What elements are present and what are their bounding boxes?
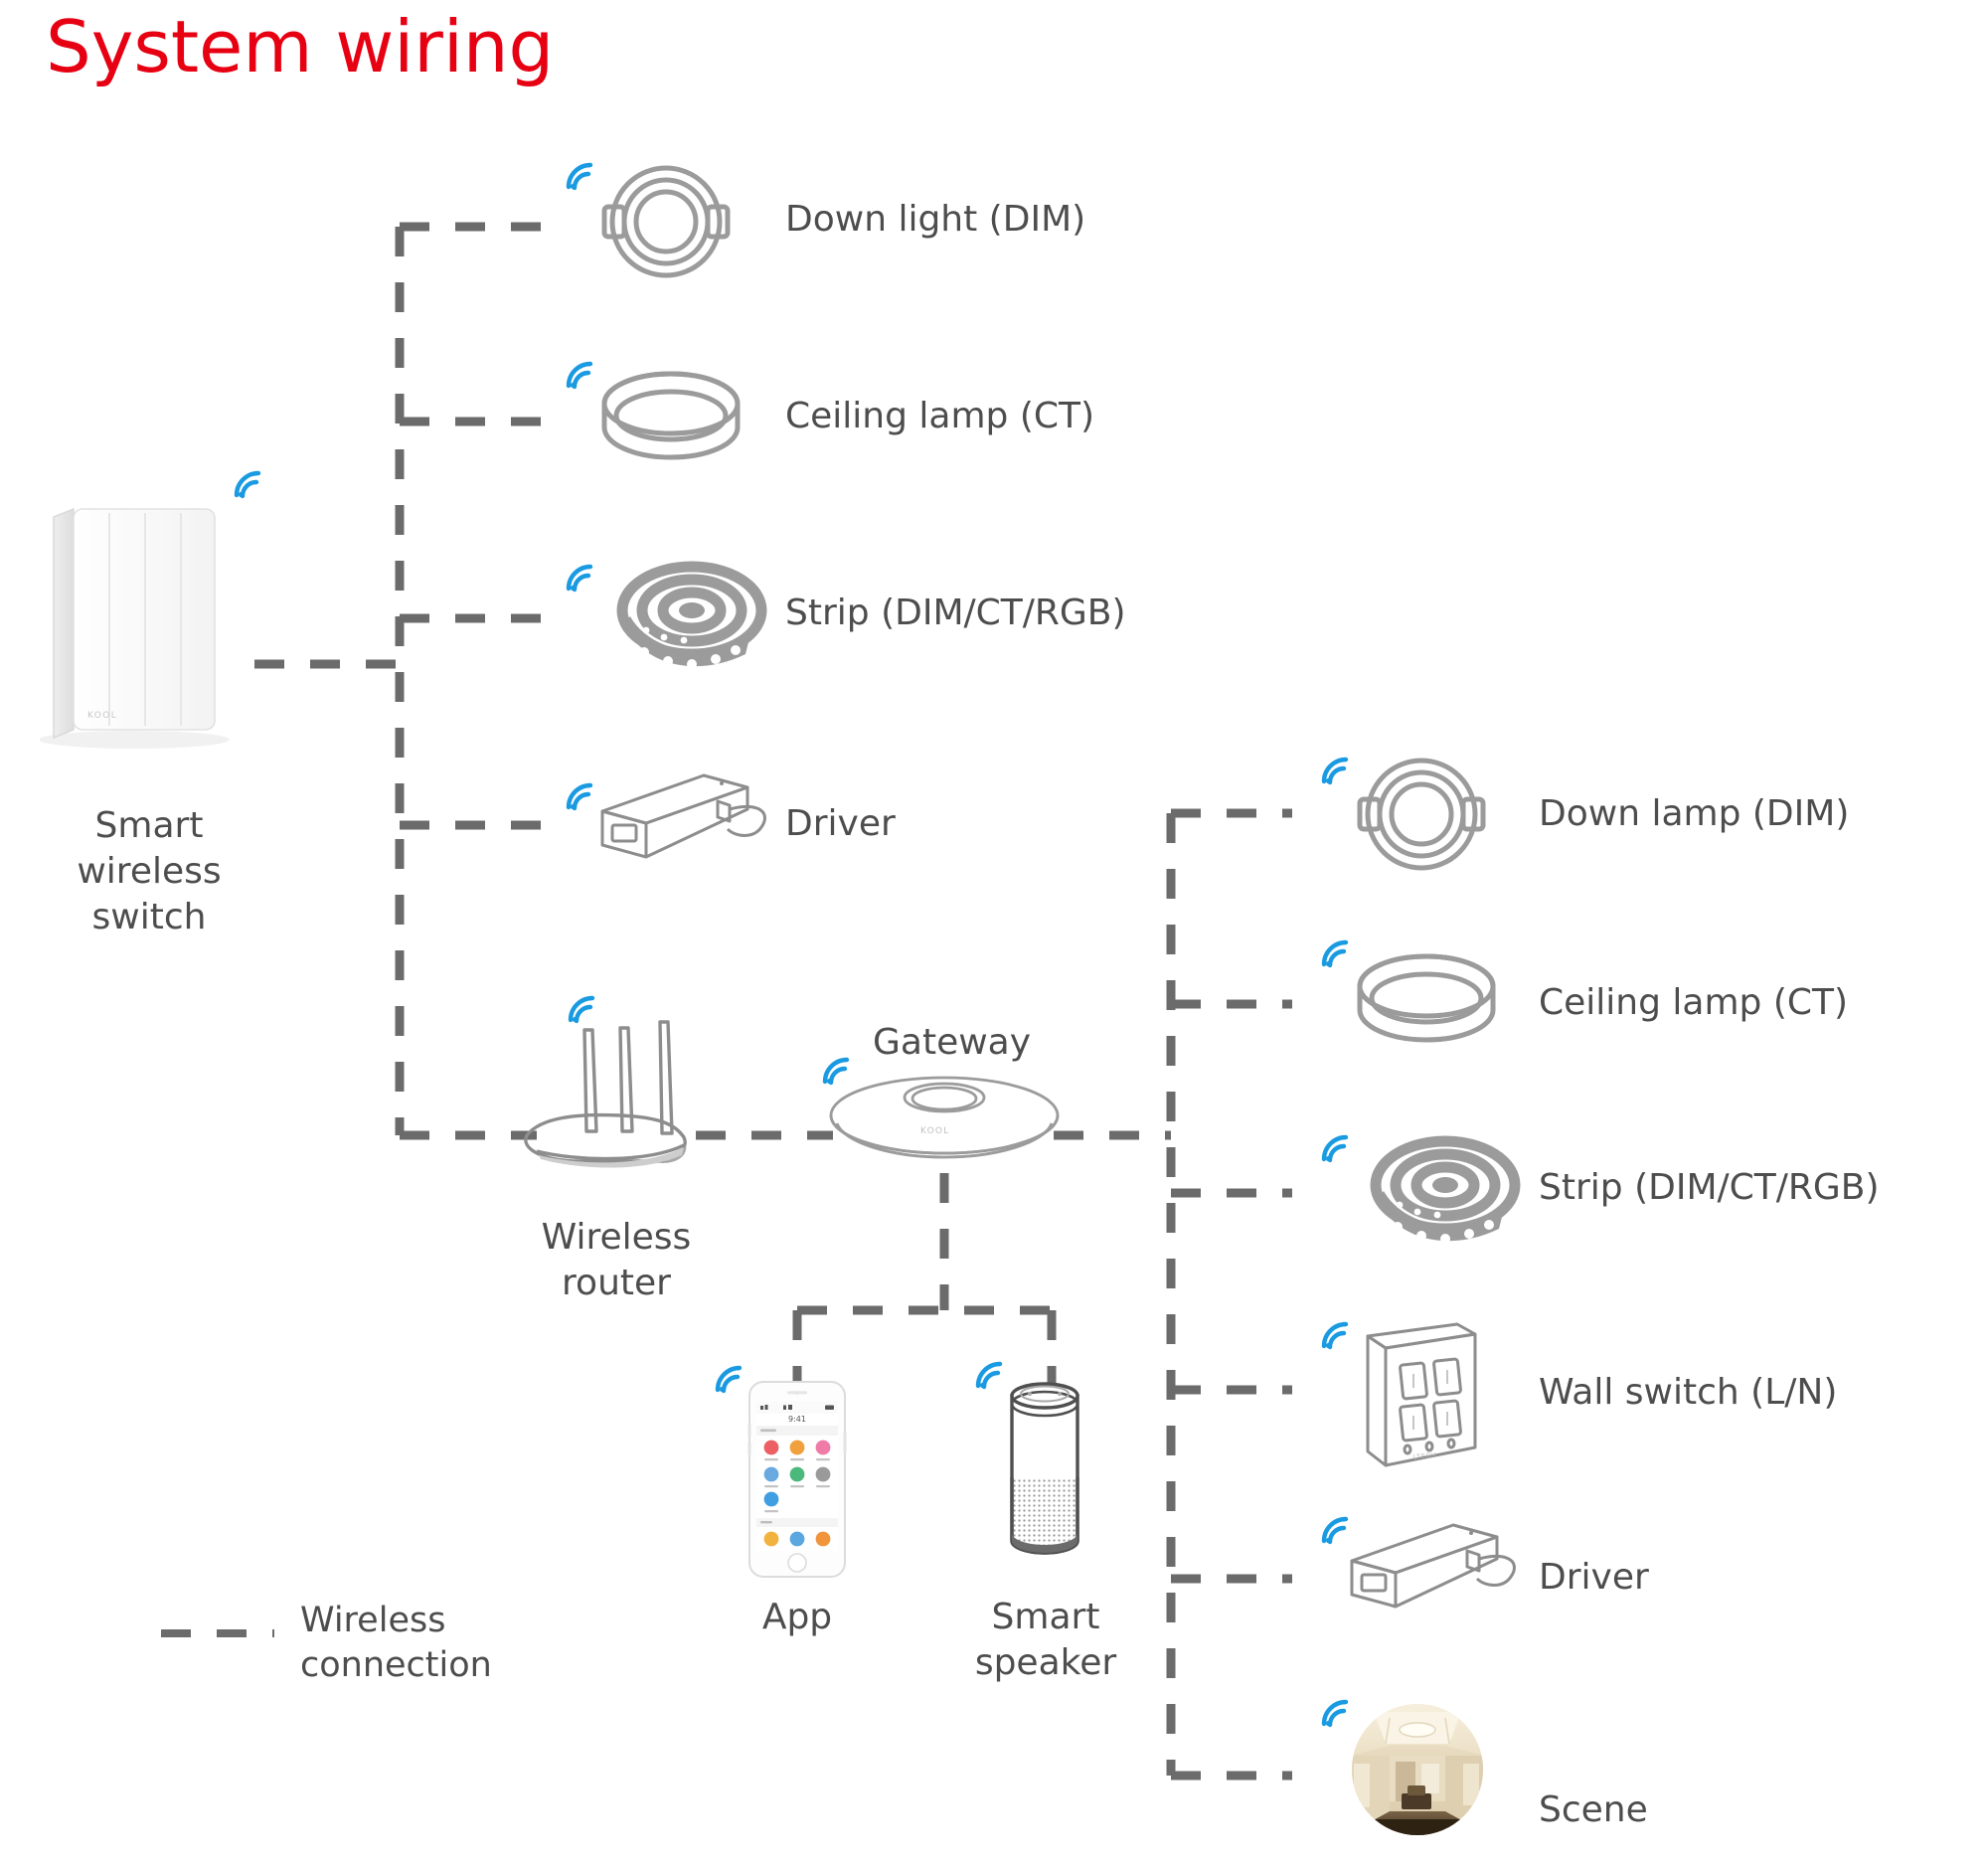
wifi-icon-ceiling-lamp-left: [563, 360, 596, 390]
scene-label: Scene: [1539, 1787, 1648, 1833]
scene-icon[interactable]: [1350, 1702, 1485, 1837]
legend-dashed-line: [159, 1622, 276, 1630]
down-lamp-label: Down lamp (DIM): [1539, 791, 1849, 837]
app-label: App: [698, 1595, 897, 1640]
wiring-connections: [0, 0, 1988, 1867]
gateway-label: Gateway: [873, 1020, 1031, 1066]
gateway-device[interactable]: KOOL: [825, 1072, 1064, 1181]
wifi-icon-speaker: [972, 1360, 1006, 1390]
ceiling-lamp-label-left: Ceiling lamp (CT): [785, 394, 1094, 439]
smart-wireless-switch-label: Smart wireless switch: [20, 803, 278, 940]
svg-text:KOOL: KOOL: [87, 711, 117, 721]
driver-label-left: Driver: [785, 801, 896, 847]
switch-label-line-2: wireless: [20, 849, 278, 895]
legend-line-2: connection: [300, 1643, 492, 1688]
ceiling-lamp-icon-left[interactable]: [596, 370, 745, 475]
down-lamp-icon[interactable]: [1352, 750, 1491, 879]
svg-text:LTECH: LTECH: [1412, 1451, 1436, 1461]
system-wiring-diagram: System wiring: [0, 0, 1988, 1867]
legend-line-1: Wireless: [300, 1599, 492, 1643]
wifi-icon-smart-switch: [231, 469, 264, 499]
down-light-icon[interactable]: [596, 157, 736, 286]
wireless-router-device[interactable]: [517, 1006, 716, 1185]
switch-label-line-3: switch: [20, 895, 278, 940]
wifi-icon-strip-left: [563, 563, 596, 593]
svg-text:KOOL: KOOL: [920, 1126, 949, 1136]
ceiling-lamp-label-right: Ceiling lamp (CT): [1539, 980, 1848, 1026]
ceiling-lamp-icon-right[interactable]: [1352, 952, 1501, 1058]
svg-text:9:41: 9:41: [788, 1415, 806, 1424]
smart-speaker-device[interactable]: [1002, 1374, 1087, 1563]
wall-switch-icon[interactable]: LTECH: [1362, 1320, 1481, 1469]
led-strip-label-left: Strip (DIM/CT/RGB): [785, 591, 1126, 636]
legend-label: Wireless connection: [300, 1599, 492, 1688]
wall-switch-label: Wall switch (L/N): [1539, 1370, 1837, 1416]
wifi-icon-driver-left: [563, 781, 596, 811]
router-label-line-2: router: [497, 1261, 736, 1306]
wifi-icon-scene: [1318, 1698, 1352, 1728]
led-strip-icon-left[interactable]: [596, 559, 781, 688]
wifi-icon-wall-switch: [1318, 1320, 1352, 1350]
app-phone-device[interactable]: 9:41: [747, 1380, 847, 1579]
driver-icon-right[interactable]: [1346, 1515, 1525, 1624]
down-light-label: Down light (DIM): [785, 197, 1085, 243]
wifi-icon-app: [712, 1364, 745, 1394]
driver-icon-left[interactable]: [596, 765, 775, 875]
led-strip-icon-right[interactable]: [1350, 1133, 1535, 1263]
wifi-icon-down-lamp: [1318, 756, 1352, 785]
wifi-icon-down-light: [563, 161, 596, 191]
smart-wireless-switch-device[interactable]: KOOL: [40, 495, 258, 754]
wifi-icon-ceiling-lamp-right: [1318, 938, 1352, 968]
page-title: System wiring: [46, 8, 554, 86]
speaker-label-line-2: speaker: [940, 1640, 1151, 1686]
led-strip-label-right: Strip (DIM/CT/RGB): [1539, 1165, 1880, 1211]
speaker-label-line-1: Smart: [940, 1595, 1151, 1640]
wifi-icon-strip-right: [1318, 1133, 1352, 1163]
wireless-router-label: Wireless router: [497, 1215, 736, 1306]
driver-label-right: Driver: [1539, 1555, 1649, 1601]
smart-speaker-label: Smart speaker: [940, 1595, 1151, 1686]
switch-label-line-1: Smart: [20, 803, 278, 849]
router-label-line-1: Wireless: [497, 1215, 736, 1261]
